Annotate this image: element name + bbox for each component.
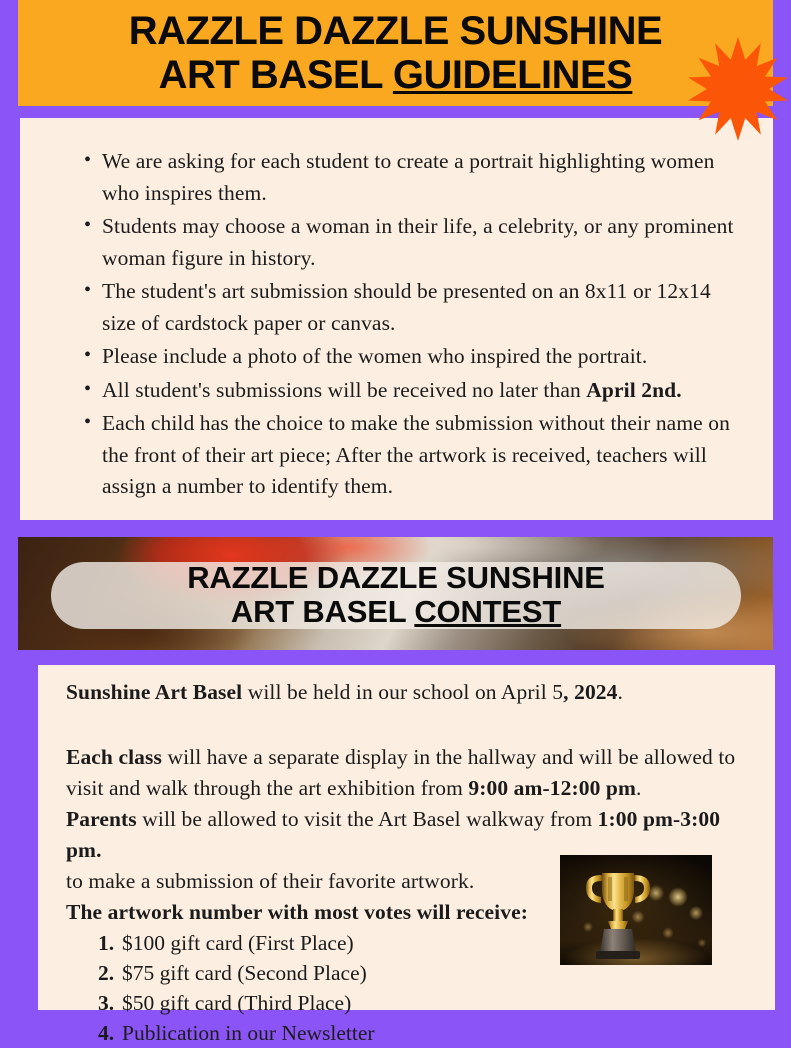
page-title-line1: RAZZLE DAZZLE SUNSHINE <box>129 9 662 53</box>
contest-banner: RAZZLE DAZZLE SUNSHINEART BASEL CONTEST <box>18 537 773 650</box>
list-item-deadline: All student's submissions will be receiv… <box>84 375 747 407</box>
contest-title-line1: RAZZLE DAZZLE SUNSHINE <box>187 561 605 595</box>
list-item: Publication in our Newsletter <box>98 1018 759 1048</box>
list-item: We are asking for each student to create… <box>84 146 747 209</box>
guidelines-panel: We are asking for each student to create… <box>20 118 773 520</box>
guidelines-list: We are asking for each student to create… <box>50 146 747 503</box>
classes-time: 9:00 am-12:00 pm <box>468 776 636 800</box>
parents-text: will be allowed to visit the Art Basel w… <box>137 807 598 831</box>
classes-paragraph: Each class will have a separate display … <box>66 742 759 804</box>
flyer-page: RAZZLE DAZZLE SUNSHINEART BASEL GUIDELIN… <box>0 0 791 1024</box>
trophy-photo <box>560 855 712 965</box>
event-date-paragraph: Sunshine Art Basel will be held in our s… <box>66 677 759 708</box>
classes-lead: Each class <box>66 745 162 769</box>
event-text-end: . <box>618 680 623 704</box>
contest-title-line2-underlined: CONTEST <box>414 594 561 629</box>
list-item: The student's art submission should be p… <box>84 276 747 339</box>
list-item: Each child has the choice to make the su… <box>84 408 747 503</box>
deadline-text: All student's submissions will be receiv… <box>102 378 586 402</box>
page-title-line2-plain: ART BASEL <box>159 53 393 97</box>
contest-title-line2-plain: ART BASEL <box>231 594 414 629</box>
list-item: $50 gift card (Third Place) <box>98 988 759 1018</box>
event-name: Sunshine Art Basel <box>66 680 242 704</box>
event-year: , 2024 <box>563 680 617 704</box>
page-title: RAZZLE DAZZLE SUNSHINEART BASEL GUIDELIN… <box>18 9 773 97</box>
contest-banner-title: RAZZLE DAZZLE SUNSHINEART BASEL CONTEST <box>51 561 741 628</box>
paragraph-spacer <box>66 708 759 742</box>
trophy-icon <box>582 863 654 961</box>
list-item: Please include a photo of the women who … <box>84 341 747 373</box>
contest-title-line2: ART BASEL CONTEST <box>231 595 561 629</box>
header-band: RAZZLE DAZZLE SUNSHINEART BASEL GUIDELIN… <box>18 0 773 106</box>
list-item: Students may choose a woman in their lif… <box>84 211 747 274</box>
event-text-mid: will be held in our school on April 5 <box>242 680 563 704</box>
parents-lead: Parents <box>66 807 137 831</box>
deadline-date: April 2nd. <box>586 378 681 402</box>
classes-text-end: . <box>636 776 641 800</box>
page-title-line2-underlined: GUIDELINES <box>393 53 632 97</box>
